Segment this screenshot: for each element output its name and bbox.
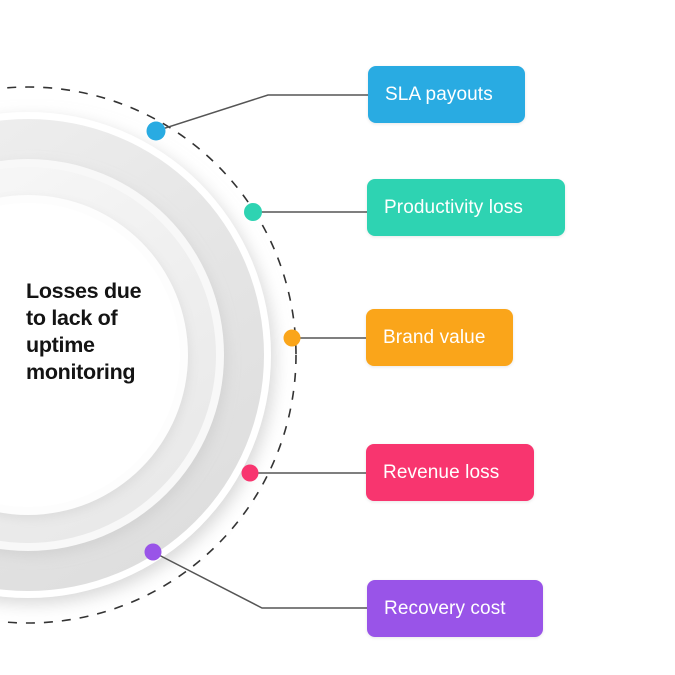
label-text-recovery-cost: Recovery cost [384,598,506,620]
label-box-sla-payouts[interactable]: SLA payouts [368,66,525,123]
label-text-sla-payouts: SLA payouts [385,84,493,106]
node-dot-productivity-loss[interactable] [244,203,262,221]
label-box-recovery-cost[interactable]: Recovery cost [367,580,543,637]
label-box-productivity-loss[interactable]: Productivity loss [367,179,565,236]
node-dot-brand-value[interactable] [284,330,301,347]
connector-line-recovery-cost [153,552,367,608]
label-text-revenue-loss: Revenue loss [383,462,499,484]
label-text-brand-value: Brand value [383,327,486,349]
node-dot-sla-payouts[interactable] [147,122,166,141]
label-box-revenue-loss[interactable]: Revenue loss [366,444,534,501]
label-box-brand-value[interactable]: Brand value [366,309,513,366]
node-dot-revenue-loss[interactable] [242,465,259,482]
node-dot-recovery-cost[interactable] [145,544,162,561]
connector-line-sla-payouts [156,95,368,131]
label-text-productivity-loss: Productivity loss [384,197,523,219]
infographic-canvas: Losses due to lack of uptime monitoring … [0,0,675,675]
center-title: Losses due to lack of uptime monitoring [26,278,186,386]
